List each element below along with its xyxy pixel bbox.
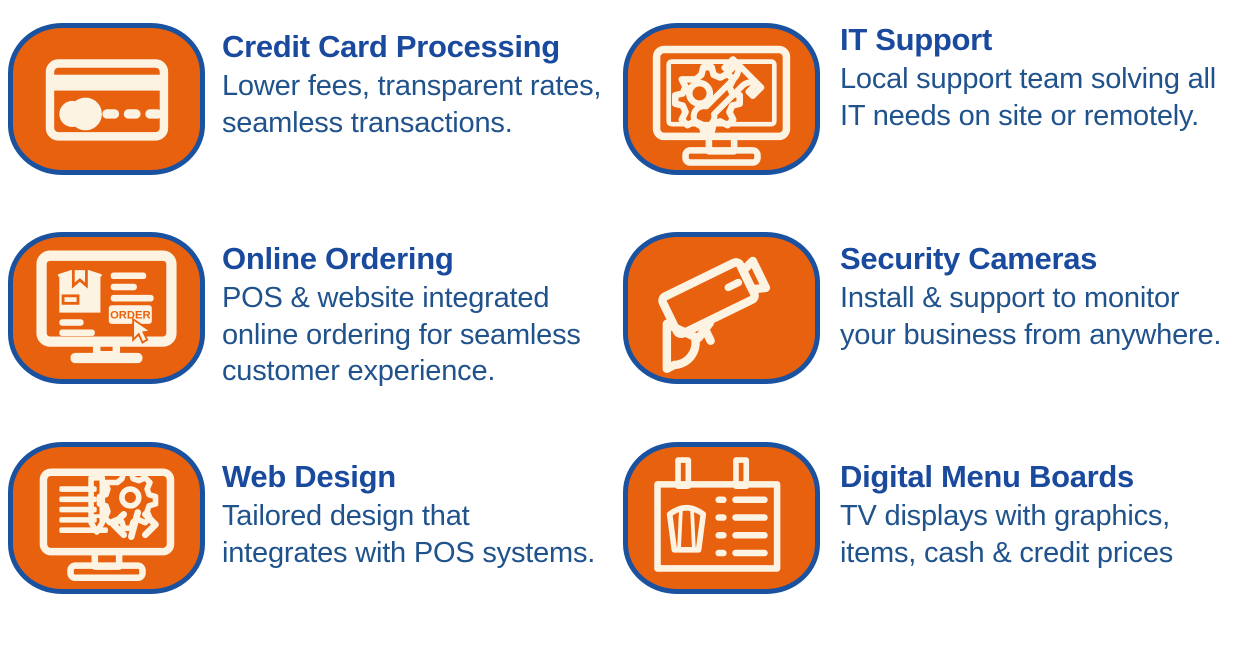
feature-description-line: Lower fees, transparent rates, — [222, 70, 601, 102]
feature-description: Install & support to monitor your busine… — [840, 280, 1240, 353]
feature-description: POS & website integrated online ordering… — [222, 280, 620, 390]
feature-description-line: online ordering for seamless — [222, 319, 581, 351]
order-button-label: ORDER — [110, 309, 150, 321]
menu-rows-glyph — [715, 497, 767, 557]
feature-description: Lower fees, transparent rates, seamless … — [222, 68, 620, 141]
feature-card-online-ordering[interactable]: ORDER Online Ordering POS & website inte… — [0, 210, 620, 430]
feature-copy: Credit Card Processing Lower fees, trans… — [205, 0, 620, 141]
services-feature-board: Credit Card Processing Lower fees, trans… — [0, 0, 1240, 649]
feature-card-digital-menu-boards[interactable]: Digital Menu Boards TV displays with gra… — [620, 430, 1240, 649]
credit-card-icon — [13, 28, 200, 170]
feature-grid: Credit Card Processing Lower fees, trans… — [0, 0, 1240, 649]
feature-copy: Web Design Tailored design that integrat… — [205, 430, 620, 571]
package-glyph — [59, 269, 100, 313]
feature-title: Security Cameras — [840, 240, 1240, 277]
feature-description-line: items, cash & credit prices — [840, 537, 1173, 569]
feature-card-web-design[interactable]: Web Design Tailored design that integrat… — [0, 430, 620, 649]
monitor-gear-wrench-icon — [628, 28, 815, 170]
feature-description-line: IT needs on site or remotely. — [840, 100, 1199, 132]
feature-card-credit-card-processing[interactable]: Credit Card Processing Lower fees, trans… — [0, 0, 620, 210]
feature-description: Tailored design that integrates with POS… — [222, 498, 620, 571]
security-camera-icon — [628, 237, 815, 379]
feature-description-line: your business from anywhere. — [840, 319, 1221, 351]
credit-card-icon-tile — [8, 23, 205, 175]
food-glyph — [670, 508, 704, 550]
feature-description-line: customer experience. — [222, 355, 495, 387]
feature-description: TV displays with graphics, items, cash &… — [840, 498, 1240, 571]
digital-menu-board-icon-tile — [623, 442, 820, 594]
feature-title: Web Design — [222, 458, 620, 495]
monitor-pencil-code-icon — [13, 447, 200, 589]
feature-copy: Online Ordering POS & website integrated… — [205, 210, 620, 390]
security-camera-icon-tile — [623, 232, 820, 384]
feature-description-line: seamless transactions. — [222, 107, 513, 139]
feature-description-line: Tailored design that — [222, 500, 470, 532]
feature-description-line: POS & website integrated — [222, 282, 549, 314]
it-support-icon-tile — [623, 23, 820, 175]
monitor-package-order-icon: ORDER — [13, 237, 200, 379]
web-design-icon-tile — [8, 442, 205, 594]
feature-card-security-cameras[interactable]: Security Cameras Install & support to mo… — [620, 210, 1240, 430]
feature-card-it-support[interactable]: IT Support Local support team solving al… — [620, 0, 1240, 210]
feature-description-line: Local support team solving all — [840, 63, 1216, 95]
menu-board-icon — [628, 447, 815, 589]
feature-title: Digital Menu Boards — [840, 458, 1240, 495]
feature-title: Credit Card Processing — [222, 28, 620, 65]
feature-description-line: integrates with POS systems. — [222, 537, 595, 569]
feature-description-line: Install & support to monitor — [840, 282, 1179, 314]
feature-title: Online Ordering — [222, 240, 620, 277]
feature-description-line: TV displays with graphics, — [840, 500, 1170, 532]
feature-description: Local support team solving all IT needs … — [840, 61, 1240, 134]
online-ordering-icon-tile: ORDER — [8, 232, 205, 384]
feature-title: IT Support — [840, 21, 1240, 58]
